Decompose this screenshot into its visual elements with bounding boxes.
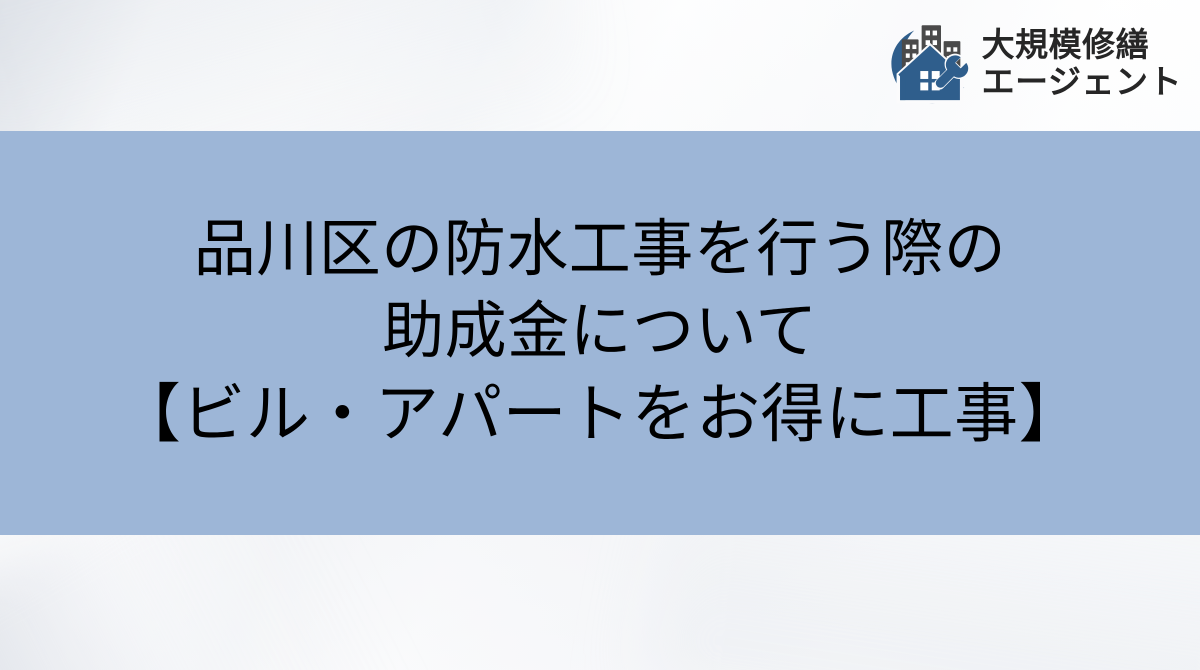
brand-name-line2: エージェント <box>982 64 1182 101</box>
title-line-3: 【ビル・アパートをお得に工事】 <box>117 373 1083 458</box>
title-banner: 品川区の防水工事を行う際の 助成金について 【ビル・アパートをお得に工事】 <box>0 131 1200 535</box>
brand-logo[interactable]: 大規模修繕 エージェント <box>886 18 1182 110</box>
brand-name: 大規模修繕 エージェント <box>982 27 1182 101</box>
brand-name-line1: 大規模修繕 <box>982 27 1182 64</box>
house-buildings-wrench-logo-icon <box>886 18 974 110</box>
title-line-1: 品川区の防水工事を行う際の <box>194 208 1007 290</box>
thumbnail-canvas: 大規模修繕 エージェント 品川区の防水工事を行う際の 助成金について 【ビル・ア… <box>0 0 1200 670</box>
title-line-2: 助成金について <box>382 290 818 372</box>
